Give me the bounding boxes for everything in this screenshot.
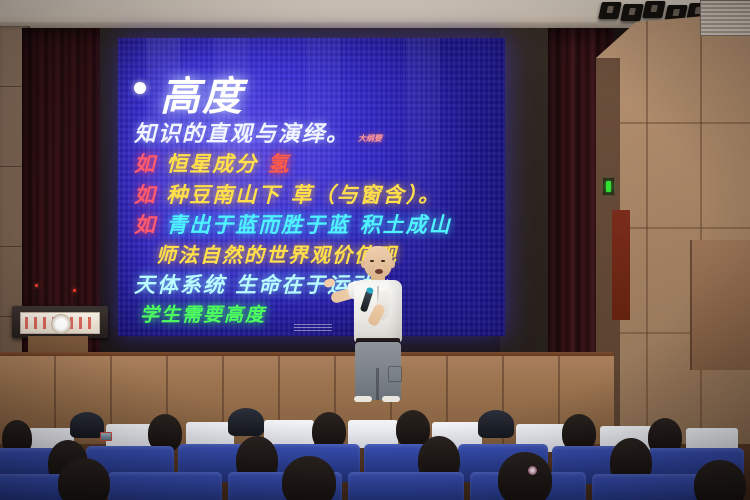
audience-phone-icon [100,432,112,441]
slide-line-5-text: 青出于蓝而胜于蓝 积土成山 [166,213,451,237]
presenter-pants-pocket [388,366,402,382]
presenter-ear [390,260,395,268]
audience-head [498,452,552,500]
audience-hair-flower [528,466,537,475]
slide-line-2-note: 大纲要 [358,134,382,143]
lecture-hall-photo: 高度 知识的直观与演绎。大纲要 如 恒星成分 氢 如 种豆南山下 草（与窗含）。… [0,0,750,500]
microphone-indicator-light [35,284,38,287]
stage-light-icon [642,1,666,18]
slide-line-8: 学生需要高度 [140,300,266,327]
auditorium-seat [108,472,222,500]
audience-cap [478,410,514,438]
presenter-pants [355,342,401,400]
slide-line-3: 如 恒星成分 氢 [134,148,291,178]
microphone-indicator-light [73,289,76,292]
presenter-pointing-hand [323,277,336,288]
presentation-slide: 高度 知识的直观与演绎。大纲要 如 恒星成分 氢 如 种豆南山下 草（与窗含）。… [118,38,505,336]
slide-line-3-marker: 如 [134,152,157,176]
stage-light-icon [620,4,644,21]
podium-plaque [20,312,100,334]
exit-sign-icon [602,177,615,196]
audience-head [282,456,336,500]
led-screen[interactable]: 高度 知识的直观与演绎。大纲要 如 恒星成分 氢 如 种豆南山下 草（与窗含）。… [118,38,505,336]
audience-cap [70,412,104,438]
right-wall-door-panel[interactable] [690,240,750,370]
podium-emblem-icon [51,314,71,334]
audience-cap [228,408,264,436]
slide-title: 高度 [160,64,244,122]
presenter-eye [381,260,385,262]
presenter [330,246,426,400]
slide-line-2-text: 知识的直观与演绎。 [134,122,350,147]
stage-light-icon [598,2,622,19]
slide-line-3-highlight: 氢 [268,152,291,176]
audience-head [58,458,110,500]
presenter-eye [370,260,374,262]
slide-line-5: 如 青出于蓝而胜于蓝 积土成山 [134,209,452,239]
auditorium-seat [348,472,464,500]
presenter-shoe [382,396,400,402]
slide-line-5-marker: 如 [134,213,157,237]
presenter-ear [361,260,366,268]
presenter-shoe [354,396,372,402]
slide-line-3-text: 恒星成分 [166,152,258,176]
podium-microphone-stem [35,286,36,308]
slide-line-4-text: 种豆南山下 草（与窗含）。 [166,183,441,207]
side-door[interactable] [612,210,630,320]
air-vent-grille [700,0,750,36]
bullet-dot-icon [134,82,146,94]
screen-artifact [294,324,332,332]
slide-line-4: 如 种豆南山下 草（与窗含）。 [134,179,441,209]
slide-line-4-marker: 如 [134,183,157,207]
slide-line-2: 知识的直观与演绎。大纲要 [134,116,382,148]
